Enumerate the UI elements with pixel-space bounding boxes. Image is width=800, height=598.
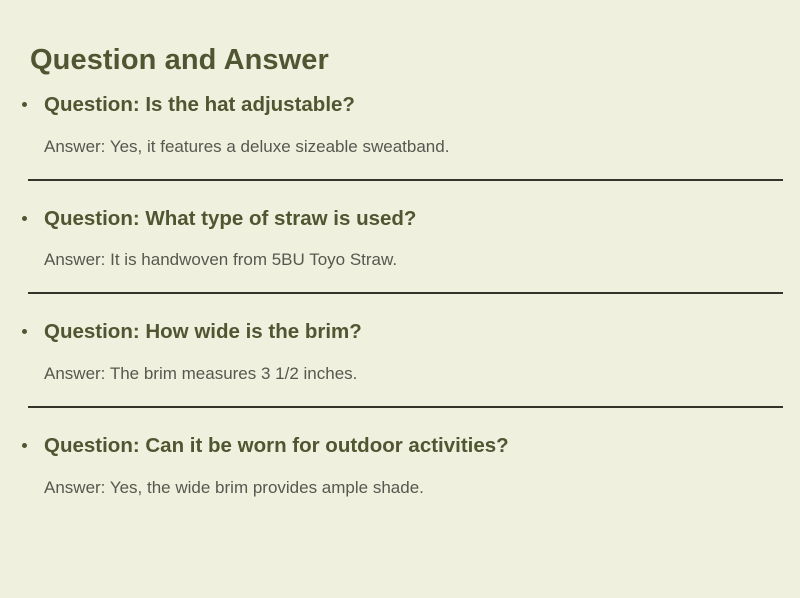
qa-divider (28, 179, 783, 181)
qa-answer: Answer: It is handwoven from 5BU Toyo St… (0, 231, 800, 271)
qa-question-text: Question: Can it be worn for outdoor act… (44, 434, 509, 457)
qa-question-text: Question: What type of straw is used? (44, 207, 416, 230)
bullet-dot-icon (22, 329, 27, 334)
qa-divider (28, 292, 783, 294)
qa-answer: Answer: The brim measures 3 1/2 inches. (0, 345, 800, 385)
qa-question: Question: How wide is the brim? (0, 319, 800, 345)
qa-question: Question: What type of straw is used? (0, 206, 800, 232)
page-title: Question and Answer (30, 43, 329, 78)
qa-item: Question: How wide is the brim? Answer: … (0, 319, 800, 433)
qa-answer: Answer: Yes, it features a deluxe sizeab… (0, 118, 800, 158)
qa-divider (28, 406, 783, 408)
qa-list: Question: Is the hat adjustable? Answer:… (0, 92, 800, 499)
qa-question-text: Question: How wide is the brim? (44, 320, 362, 343)
qa-item: Question: Can it be worn for outdoor act… (0, 433, 800, 499)
bullet-dot-icon (22, 102, 27, 107)
bullet-dot-icon (22, 443, 27, 448)
qa-question: Question: Is the hat adjustable? (0, 92, 800, 118)
bullet-dot-icon (22, 216, 27, 221)
qa-item: Question: What type of straw is used? An… (0, 206, 800, 320)
qa-answer: Answer: Yes, the wide brim provides ampl… (0, 459, 800, 499)
qa-question-text: Question: Is the hat adjustable? (44, 93, 355, 116)
qa-page: Question and Answer Question: Is the hat… (0, 0, 800, 598)
qa-question: Question: Can it be worn for outdoor act… (0, 433, 800, 459)
qa-item: Question: Is the hat adjustable? Answer:… (0, 92, 800, 206)
